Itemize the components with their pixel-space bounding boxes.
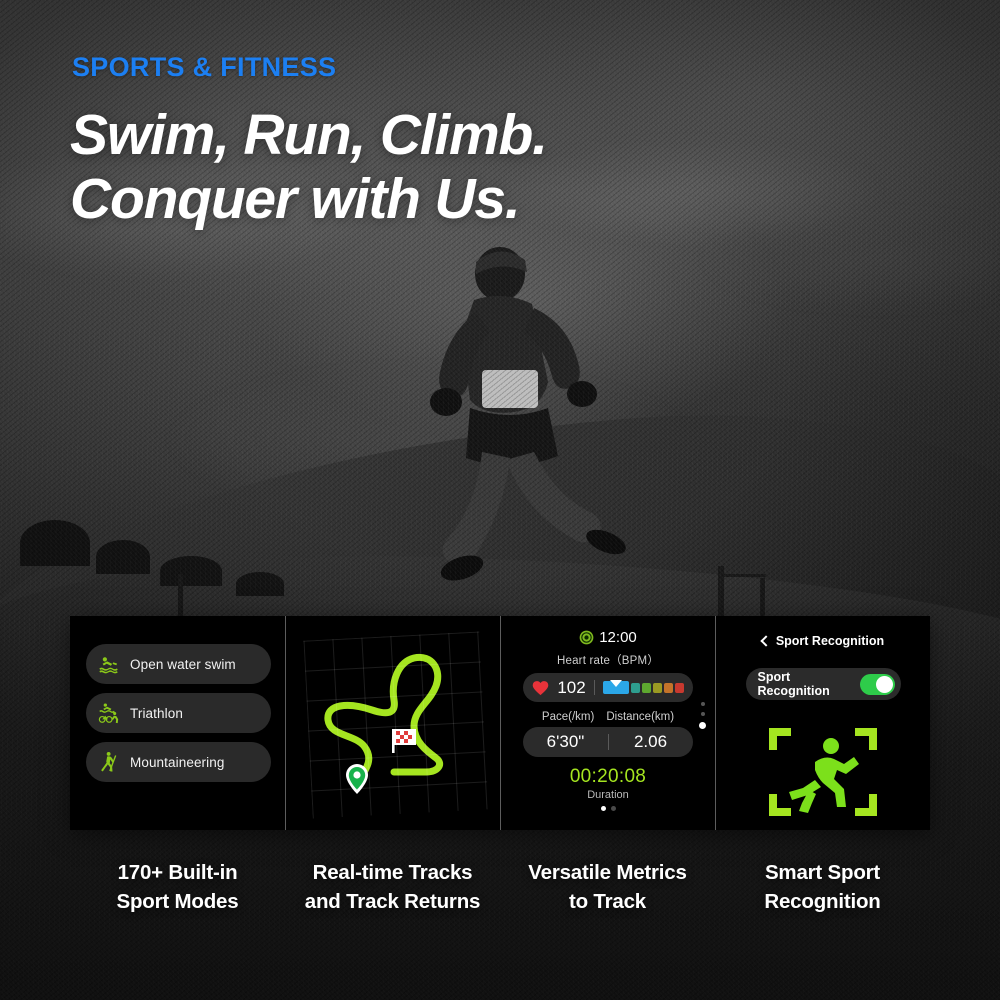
list-item-label: Triathlon	[130, 706, 183, 721]
pace-label: Pace(/km)	[542, 711, 594, 723]
caption-line-2: Recognition	[715, 887, 930, 916]
caption-line-1: Real-time Tracks	[285, 858, 500, 887]
list-item-label: Open water swim	[130, 657, 236, 672]
zone-segment	[675, 683, 684, 693]
sport-mode-list: Open water swim Triathlon	[70, 616, 285, 782]
recognition-visual	[769, 728, 877, 816]
list-item[interactable]: Triathlon	[86, 693, 271, 733]
sport-recognition-toggle[interactable]	[860, 674, 894, 695]
caption-real-time-tracks: Real-time Tracks and Track Returns	[285, 858, 500, 916]
sport-recognition-toggle-row[interactable]: Sport Recognition	[746, 668, 901, 700]
page-title: Swim, Run, Climb. Conquer with Us.	[70, 104, 790, 232]
zone-segment	[653, 683, 662, 693]
pace-distance-row[interactable]: 6'30" 2.06	[523, 727, 693, 757]
heart-rate-zone-bar	[603, 681, 684, 694]
map-grid	[303, 632, 488, 819]
swimmer-icon	[98, 653, 120, 675]
duration-label: Duration	[501, 789, 715, 801]
scroll-dot	[701, 712, 705, 716]
caption-line-1: 170+ Built-in	[70, 858, 285, 887]
watch-workout-screen: 12:00 Heart rate（BPM） 102	[501, 616, 715, 830]
scroll-dot	[701, 702, 705, 706]
card-versatile-metrics[interactable]: 12:00 Heart rate（BPM） 102	[500, 616, 715, 830]
caption-line-2: and Track Returns	[285, 887, 500, 916]
caption-sport-modes: 170+ Built-in Sport Modes	[70, 858, 285, 916]
caption-versatile-metrics: Versatile Metrics to Track	[500, 858, 715, 916]
zone-segment	[664, 683, 673, 693]
heart-rate-value: 102	[557, 678, 585, 698]
heart-rate-label: Heart rate（BPM）	[501, 652, 715, 668]
heart-icon	[532, 680, 549, 696]
gps-signal-icon	[579, 630, 594, 645]
scroll-dot-active	[699, 722, 706, 729]
toggle-label: Sport Recognition	[758, 670, 861, 698]
back-chevron-icon[interactable]	[760, 635, 771, 646]
distance-value: 2.06	[609, 732, 693, 752]
headline-line-1: Swim, Run, Climb.	[70, 104, 790, 168]
headline-line-2: Conquer with Us.	[70, 168, 790, 232]
page-indicator[interactable]	[501, 806, 715, 811]
pace-value: 6'30"	[524, 732, 608, 752]
card-real-time-tracks[interactable]	[285, 616, 500, 830]
list-item[interactable]: Mountaineering	[86, 742, 271, 782]
caption-line-2: Sport Modes	[70, 887, 285, 916]
track-map[interactable]	[286, 616, 500, 830]
list-item[interactable]: Open water swim	[86, 644, 271, 684]
screen-header: Sport Recognition	[716, 634, 930, 648]
caption-line-1: Versatile Metrics	[500, 858, 715, 887]
page-dot[interactable]	[611, 806, 616, 811]
card-sport-modes[interactable]: Open water swim Triathlon	[70, 616, 285, 830]
mountaineering-icon	[98, 751, 120, 773]
list-item-label: Mountaineering	[130, 755, 224, 770]
feature-card-strip: Open water swim Triathlon	[70, 616, 930, 830]
triathlon-icon	[98, 702, 120, 724]
watch-time: 12:00	[599, 629, 637, 646]
page-dot-active[interactable]	[601, 806, 606, 811]
zone-segment	[631, 683, 640, 693]
running-person-icon	[789, 738, 859, 813]
zone-segment	[642, 683, 651, 693]
heart-rate-row[interactable]: 102	[523, 673, 693, 702]
sport-recognition-screen: Sport Recognition Sport Recognition	[716, 616, 930, 830]
duration-value: 00:20:08	[501, 766, 715, 788]
card-smart-sport-recognition[interactable]: Sport Recognition Sport Recognition	[715, 616, 930, 830]
divider	[594, 680, 595, 695]
caption-smart-sport-recognition: Smart Sport Recognition	[715, 858, 930, 916]
caption-line-2: to Track	[500, 887, 715, 916]
distance-label: Distance(km)	[606, 711, 674, 723]
scroll-indicator[interactable]	[699, 702, 706, 729]
zone-segment-active	[603, 681, 629, 694]
status-row: 12:00	[501, 629, 715, 646]
pace-distance-labels: Pace(/km) Distance(km)	[501, 711, 715, 723]
eyebrow-label: SPORTS & FITNESS	[72, 52, 336, 83]
screen-title: Sport Recognition	[776, 634, 884, 648]
feature-captions: 170+ Built-in Sport Modes Real-time Trac…	[70, 858, 930, 916]
caption-line-1: Smart Sport	[715, 858, 930, 887]
scan-brackets-icon	[769, 728, 877, 816]
